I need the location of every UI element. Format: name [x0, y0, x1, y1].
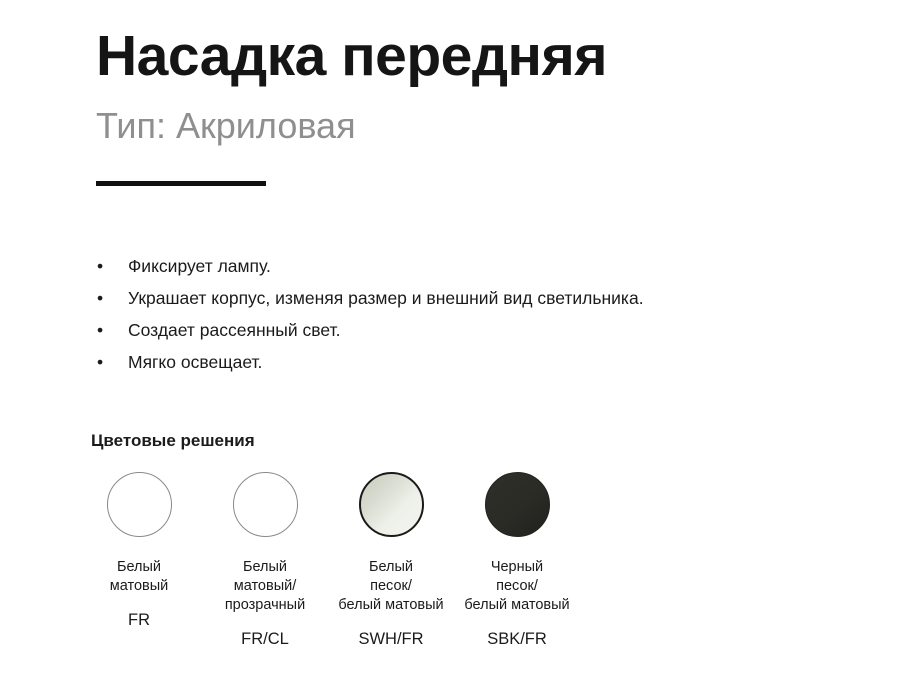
- list-item: • Фиксирует лампу.: [96, 250, 886, 282]
- slide-canvas: Насадка передняя Тип: Акриловая • Фиксир…: [0, 0, 900, 700]
- slide-header: Насадка передняя Тип: Акриловая: [96, 26, 876, 145]
- color-swatch-code: FR/CL: [241, 629, 289, 649]
- colors-section-heading: Цветовые решения: [91, 431, 255, 451]
- color-swatch-option[interactable]: Белый матовый/ прозрачный FR/CL: [202, 472, 328, 649]
- color-swatch-code: SWH/FR: [358, 629, 423, 649]
- color-swatch-circle[interactable]: [107, 472, 172, 537]
- color-swatch-code: SBK/FR: [487, 629, 547, 649]
- list-item: • Создает рассеянный свет.: [96, 314, 886, 346]
- page-subtitle: Тип: Акриловая: [96, 106, 876, 146]
- color-swatch-code: FR: [128, 610, 150, 630]
- page-title: Насадка передняя: [96, 26, 876, 88]
- color-swatch-option[interactable]: Белый песок/ белый матовый SWH/FR: [328, 472, 454, 649]
- color-swatch-caption: Белый матовый: [72, 558, 206, 596]
- list-item: • Украшает корпус, изменяя размер и внеш…: [96, 282, 886, 314]
- color-swatch-caption: Белый песок/ белый матовый: [324, 558, 458, 615]
- color-swatch-circle[interactable]: [359, 472, 424, 537]
- color-swatch-caption: Белый матовый/ прозрачный: [198, 558, 332, 615]
- list-item-label: Создает рассеянный свет.: [128, 320, 340, 340]
- bullet-icon: •: [97, 346, 103, 378]
- list-item-label: Мягко освещает.: [128, 352, 262, 372]
- color-swatch-option[interactable]: Белый матовый FR: [76, 472, 202, 630]
- color-swatch-circle[interactable]: [485, 472, 550, 537]
- color-swatch-row: Белый матовый FR Белый матовый/ прозрачн…: [76, 472, 636, 649]
- list-item-label: Фиксирует лампу.: [128, 256, 271, 276]
- color-swatch-circle[interactable]: [233, 472, 298, 537]
- color-swatch-caption: Черный песок/ белый матовый: [450, 558, 584, 615]
- bullet-icon: •: [97, 250, 103, 282]
- title-divider: [96, 181, 266, 186]
- list-item-label: Украшает корпус, изменяя размер и внешни…: [128, 288, 644, 308]
- list-item: • Мягко освещает.: [96, 346, 886, 378]
- feature-list: • Фиксирует лампу. • Украшает корпус, из…: [96, 250, 886, 378]
- color-swatch-option[interactable]: Черный песок/ белый матовый SBK/FR: [454, 472, 580, 649]
- bullet-icon: •: [97, 282, 103, 314]
- bullet-icon: •: [97, 314, 103, 346]
